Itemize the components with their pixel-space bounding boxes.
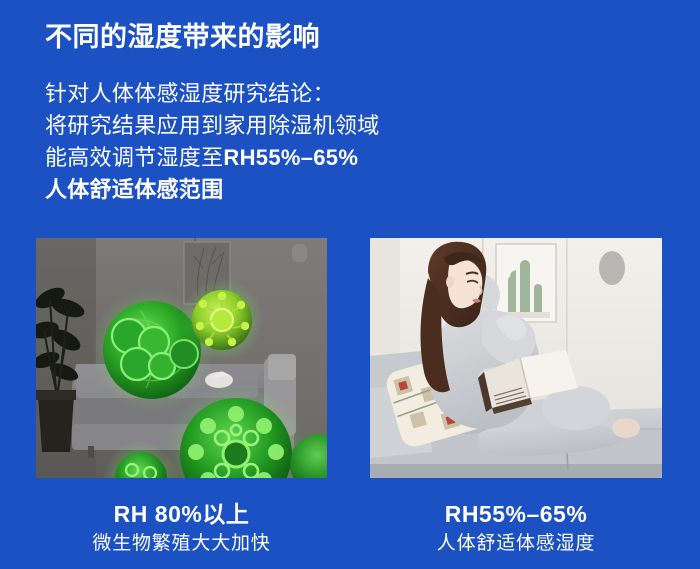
caption-left: RH 80%以上 微生物繁殖大大加快: [36, 500, 327, 557]
caption-left-subtitle: 微生物繁殖大大加快: [36, 531, 327, 557]
caption-left-title: RH 80%以上: [36, 500, 327, 528]
dark-living-room-with-green-bacteria-spheres: [36, 238, 327, 478]
humidity-infographic-poster: 不同的湿度带来的影响 针对人体体感湿度研究结论： 将研究结果应用到家用除湿机领域…: [0, 0, 700, 569]
body-line-2: 将研究结果应用到家用除湿机领域: [45, 110, 380, 142]
body-paragraph: 针对人体体感湿度研究结论： 将研究结果应用到家用除湿机领域 能高效调节湿度至RH…: [45, 78, 380, 206]
woman-reading-book-on-sofa: [370, 238, 662, 478]
body-line-3: 能高效调节湿度至RH55%–65%: [45, 142, 380, 174]
caption-right-title: RH55%–65%: [370, 500, 662, 528]
body-line-1: 针对人体体感湿度研究结论：: [45, 78, 380, 110]
image-panel-bacteria-room: [36, 238, 327, 478]
body-line-3-regular: 能高效调节湿度至: [45, 145, 223, 170]
caption-right: RH55%–65% 人体舒适体感湿度: [370, 500, 662, 557]
caption-right-subtitle: 人体舒适体感湿度: [370, 531, 662, 557]
page-title: 不同的湿度带来的影响: [45, 20, 320, 54]
body-line-3-highlight: RH55%–65%: [223, 145, 358, 170]
image-panel-comfortable-room: [370, 238, 662, 478]
body-line-4: 人体舒适体感范围: [45, 174, 380, 206]
